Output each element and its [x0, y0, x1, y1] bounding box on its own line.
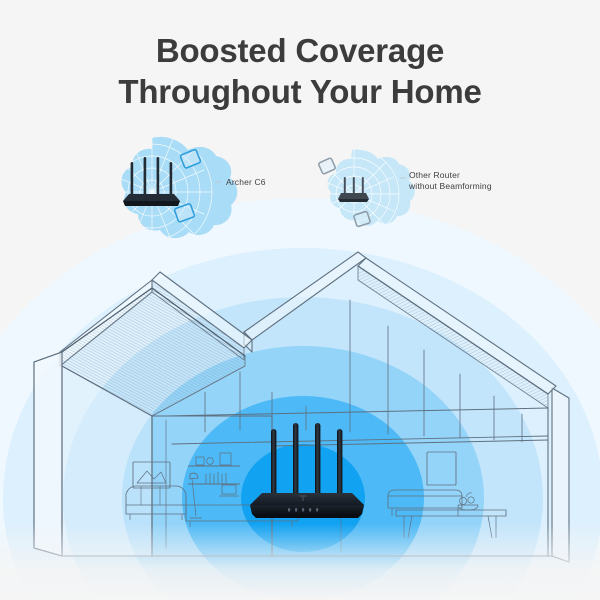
label-archer-c6-text: Archer C6 — [226, 177, 266, 187]
illustration-stage: Boosted Coverage Throughout Your Home — [0, 0, 600, 600]
label-other-router: Other Router without Beamforming — [409, 170, 492, 192]
label-other-router-line1: Other Router — [409, 170, 460, 180]
comparison-illustration — [0, 0, 600, 600]
label-archer-c6: Archer C6 — [226, 177, 266, 188]
label-other-router-line2: without Beamforming — [409, 181, 492, 191]
coverage-blob-other — [309, 149, 415, 239]
coverage-blob-archer — [92, 132, 237, 252]
